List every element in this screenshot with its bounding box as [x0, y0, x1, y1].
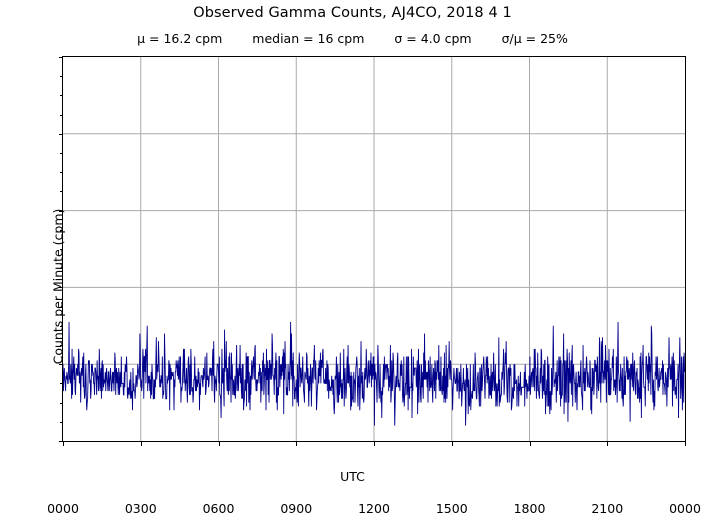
- x-tick-label: 1500: [417, 503, 487, 516]
- x-tick-mark: [219, 441, 220, 446]
- stat-median: median = 16 cpm: [252, 31, 364, 46]
- x-tick-mark: [141, 441, 142, 446]
- chart-statistics-subtitle: μ = 16.2 cpmmedian = 16 cpmσ = 4.0 cpmσ/…: [0, 31, 705, 46]
- y-tick-mark-minor: [60, 76, 63, 77]
- stat-cv: σ/μ = 25%: [502, 31, 568, 46]
- x-tick-mark: [296, 441, 297, 446]
- stat-sigma: σ = 4.0 cpm: [394, 31, 471, 46]
- x-tick-mark: [685, 441, 686, 446]
- chart-figure: Observed Gamma Counts, AJ4CO, 2018 4 1 μ…: [0, 0, 705, 489]
- x-tick-label: 0000: [650, 503, 705, 516]
- plot-area: Counts per Minute (cpm) 0204060801000000…: [62, 56, 686, 442]
- x-tick-label: 1800: [495, 503, 565, 516]
- plot-canvas: [63, 57, 685, 441]
- x-tick-label: 0000: [28, 503, 98, 516]
- x-tick-mark: [607, 441, 608, 446]
- x-tick-label: 0900: [261, 503, 331, 516]
- x-tick-mark: [452, 441, 453, 446]
- x-tick-label: 1200: [339, 503, 409, 516]
- x-axis-label: UTC: [0, 469, 705, 484]
- x-tick-label: 0300: [106, 503, 176, 516]
- stat-mean: μ = 16.2 cpm: [137, 31, 222, 46]
- y-tick-mark: [59, 57, 64, 58]
- page-title: Observed Gamma Counts, AJ4CO, 2018 4 1: [0, 5, 705, 21]
- x-tick-mark: [374, 441, 375, 446]
- y-axis-label: Counts per Minute (cpm): [51, 95, 66, 479]
- x-tick-mark: [530, 441, 531, 446]
- x-tick-label: 2100: [572, 503, 642, 516]
- x-tick-label: 0600: [184, 503, 254, 516]
